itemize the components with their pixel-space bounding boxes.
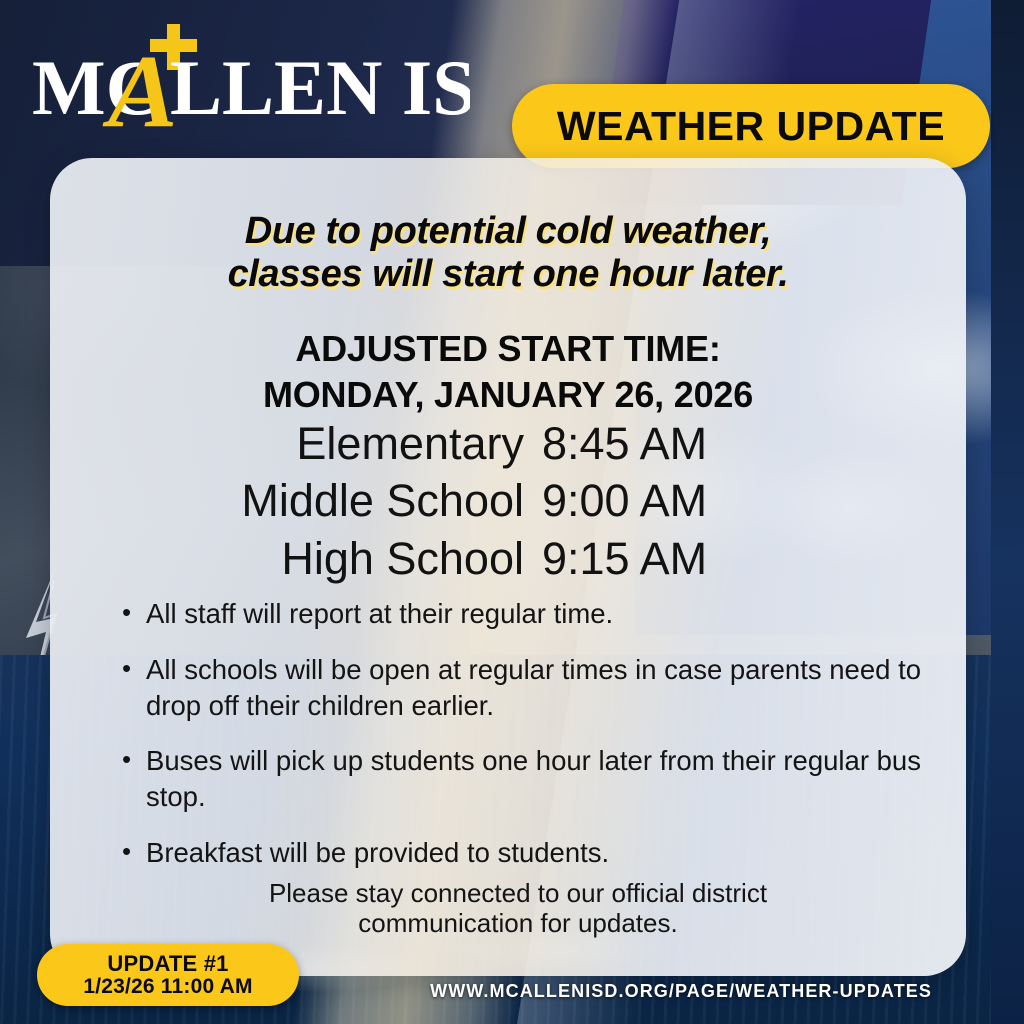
update-timestamp: 1/23/26 11:00 AM (83, 975, 252, 998)
right-edge-rail (991, 0, 1024, 1024)
adjusted-start-time-heading: ADJUSTED START TIME: MONDAY, JANUARY 26,… (50, 326, 966, 418)
announcement-card: Due to potential cold weather, classes w… (50, 158, 966, 976)
list-item: • All staff will report at their regular… (122, 596, 926, 632)
list-item-text: Breakfast will be provided to students. (146, 835, 926, 871)
closing-line-2: communication for updates. (110, 908, 926, 938)
table-row: Middle School 9:00 AM (50, 473, 966, 528)
website-url[interactable]: WWW.MCALLENISD.ORG/PAGE/WEATHER-UPDATES (430, 981, 932, 1002)
start-time-value: 8:45 AM (542, 416, 707, 471)
headline-line-2: classes will start one hour later. (50, 253, 966, 296)
weather-update-label: WEATHER UPDATE (557, 103, 945, 150)
table-row: High School 9:15 AM (50, 531, 966, 586)
start-time-line-1: ADJUSTED START TIME: (50, 326, 966, 372)
closing-message: Please stay connected to our official di… (110, 878, 926, 938)
start-time-line-2: MONDAY, JANUARY 26, 2026 (50, 372, 966, 418)
schedule-table: Elementary 8:45 AM Middle School 9:00 AM… (50, 416, 966, 586)
list-item: • Buses will pick up students one hour l… (122, 743, 926, 815)
update-number: UPDATE #1 (107, 952, 228, 975)
headline: Due to potential cold weather, classes w… (50, 210, 966, 295)
bullet-dot-icon: • (122, 652, 146, 724)
school-level: Elementary (50, 416, 542, 471)
logo-letter-a: A (102, 34, 177, 132)
bullet-dot-icon: • (122, 835, 146, 871)
bullet-list: • All staff will report at their regular… (122, 596, 926, 891)
bullet-dot-icon: • (122, 596, 146, 632)
headline-line-1: Due to potential cold weather, (50, 210, 966, 253)
school-level: Middle School (50, 473, 542, 528)
start-time-value: 9:00 AM (542, 473, 707, 528)
list-item-text: All schools will be open at regular time… (146, 652, 926, 724)
logo-text-llen-isd: LLEN ISD (170, 44, 470, 131)
update-badge: UPDATE #1 1/23/26 11:00 AM (37, 944, 299, 1006)
table-row: Elementary 8:45 AM (50, 416, 966, 471)
list-item: • Breakfast will be provided to students… (122, 835, 926, 871)
bullet-dot-icon: • (122, 743, 146, 815)
mcallen-isd-logo: MC A LLEN ISD (30, 22, 470, 132)
list-item-text: Buses will pick up students one hour lat… (146, 743, 926, 815)
list-item: • All schools will be open at regular ti… (122, 652, 926, 724)
weather-update-badge: WEATHER UPDATE (512, 84, 990, 168)
school-level: High School (50, 531, 542, 586)
list-item-text: All staff will report at their regular t… (146, 596, 926, 632)
start-time-value: 9:15 AM (542, 531, 707, 586)
closing-line-1: Please stay connected to our official di… (110, 878, 926, 908)
